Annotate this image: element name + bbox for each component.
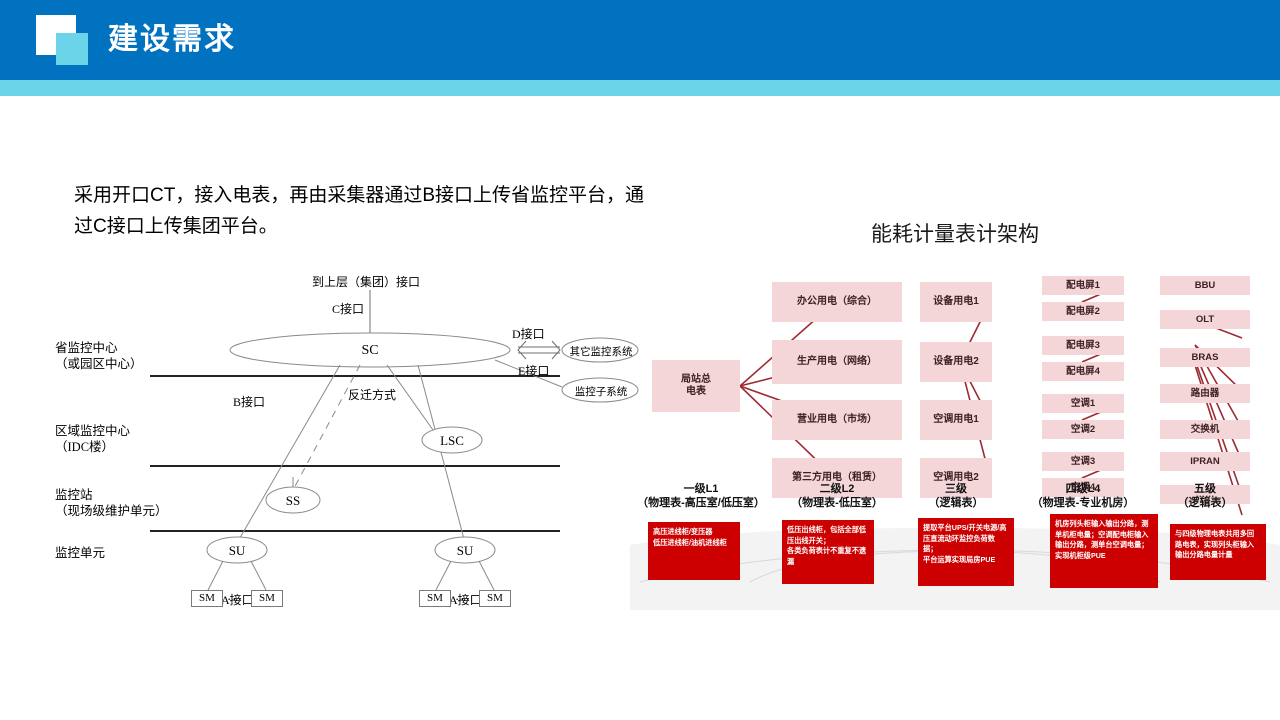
tier-1-line1: 区域监控中心 bbox=[55, 423, 130, 439]
box-level3-equipment-2[interactable]: 设备用电2 bbox=[920, 342, 992, 382]
tier-label-province: 省监控中心 （或园区中心） bbox=[55, 340, 143, 372]
label-e-interface: E接口 bbox=[518, 364, 549, 379]
label-d-interface: D接口 bbox=[512, 327, 545, 342]
box-level5-olt-label: OLT bbox=[1196, 314, 1214, 326]
box-level4-ac-1[interactable]: 空调1 bbox=[1042, 394, 1124, 413]
box-level5-router[interactable]: 路由器 bbox=[1160, 384, 1250, 403]
box-level2-office[interactable]: 办公用电（综合） bbox=[772, 282, 902, 322]
box-level1-main-meter-label: 局站总 电表 bbox=[681, 374, 711, 398]
node-sm-right-2: SM bbox=[479, 590, 511, 607]
box-level5-olt[interactable]: OLT bbox=[1160, 310, 1250, 329]
ellipsis-right: ··· bbox=[455, 591, 471, 606]
box-level5-bras[interactable]: BRAS bbox=[1160, 348, 1250, 367]
box-level4-panel-4-label: 配电屏4 bbox=[1066, 366, 1100, 378]
node-other-monitoring-system: 其它监控系统 bbox=[563, 344, 639, 359]
monitoring-hierarchy-diagram: 到上层（集团）接口 C接口 B接口 D接口 E接口 反迁方式 A接口 A接口 S… bbox=[40, 265, 640, 615]
box-level3-equipment-2-label: 设备用电2 bbox=[933, 356, 979, 368]
box-level2-business-label: 营业用电（市场） bbox=[797, 414, 877, 426]
label-c-interface: C接口 bbox=[332, 302, 364, 317]
tier-2-line1: 监控站 bbox=[55, 487, 168, 503]
node-monitoring-subsystem: 监控子系统 bbox=[563, 384, 639, 399]
level-caption-2: 二级L2 （物理表-低压室） bbox=[772, 482, 902, 510]
level-caption-1: 一级L1 （物理表-高压室/低压室） bbox=[636, 482, 766, 510]
level-caption-3-sub: （逻辑表） bbox=[911, 496, 1001, 510]
box-level3-equipment-1[interactable]: 设备用电1 bbox=[920, 282, 992, 322]
level-caption-4: 四级L4 （物理表-专业机房） bbox=[1017, 482, 1149, 510]
level-caption-5-name: 五级 bbox=[1160, 482, 1250, 496]
box-level2-office-label: 办公用电（综合） bbox=[797, 296, 877, 308]
note-level-2: 低压出线柜，包括全部低压出线开关； 各类负荷表计不重复不遗漏 bbox=[782, 520, 874, 584]
box-level5-switch-label: 交换机 bbox=[1191, 424, 1220, 436]
node-sm-left-2: SM bbox=[251, 590, 283, 607]
label-b-interface: B接口 bbox=[233, 395, 265, 410]
box-level2-production-label: 生产用电（网络） bbox=[797, 356, 877, 368]
header-accent-stripe bbox=[0, 80, 1280, 96]
note-level-5: 与四级物理电表共用多回路电表，实现列头柜输入输出分路电量计量 bbox=[1170, 524, 1266, 580]
level-caption-2-sub: （物理表-低压室） bbox=[772, 496, 902, 510]
box-level4-ac-2-label: 空调2 bbox=[1071, 424, 1095, 436]
box-level2-business[interactable]: 营业用电（市场） bbox=[772, 400, 902, 440]
node-lsc: LSC bbox=[422, 433, 482, 449]
box-level5-bbu[interactable]: BBU bbox=[1160, 276, 1250, 295]
box-level2-production[interactable]: 生产用电（网络） bbox=[772, 340, 902, 384]
node-sm-right-1: SM bbox=[419, 590, 451, 607]
box-level4-panel-2-label: 配电屏2 bbox=[1066, 306, 1100, 318]
box-level5-ipran[interactable]: IPRAN bbox=[1160, 452, 1250, 471]
tier-2-line2: （现场级维护单元） bbox=[55, 503, 168, 519]
tier-0-line2: （或园区中心） bbox=[55, 356, 143, 372]
box-level1-main-meter[interactable]: 局站总 电表 bbox=[652, 360, 740, 412]
intro-paragraph: 采用开口CT，接入电表，再由采集器通过B接口上传省监控平台，通过C接口上传集团平… bbox=[74, 180, 654, 242]
box-level4-panel-1[interactable]: 配电屏1 bbox=[1042, 276, 1124, 295]
label-to-upper-layer: 到上层（集团）接口 bbox=[312, 275, 420, 290]
box-level4-ac-3[interactable]: 空调3 bbox=[1042, 452, 1124, 471]
level-caption-2-name: 二级L2 bbox=[772, 482, 902, 496]
tier-1-line2: （IDC楼） bbox=[55, 439, 130, 455]
box-level4-panel-2[interactable]: 配电屏2 bbox=[1042, 302, 1124, 321]
box-level4-ac-2[interactable]: 空调2 bbox=[1042, 420, 1124, 439]
level-caption-3: 三级 （逻辑表） bbox=[911, 482, 1001, 510]
level-caption-3-name: 三级 bbox=[911, 482, 1001, 496]
box-level4-panel-4[interactable]: 配电屏4 bbox=[1042, 362, 1124, 381]
note-level-1: 高压进线柜/变压器 低压进线柜/油机进线柜 bbox=[648, 522, 740, 580]
box-level5-bbu-label: BBU bbox=[1195, 280, 1216, 292]
box-level5-switch[interactable]: 交换机 bbox=[1160, 420, 1250, 439]
box-level5-bras-label: BRAS bbox=[1192, 352, 1219, 364]
node-su-right: SU bbox=[435, 543, 495, 559]
node-sc: SC bbox=[340, 343, 400, 359]
label-reverse-mode: 反迁方式 bbox=[348, 388, 396, 403]
page-title: 建设需求 bbox=[108, 20, 236, 60]
tier-3-line1: 监控单元 bbox=[55, 545, 105, 561]
box-level4-panel-1-label: 配电屏1 bbox=[1066, 280, 1100, 292]
energy-metering-architecture-diagram: 能耗计量表计架构 bbox=[630, 210, 1280, 610]
tier-label-region: 区域监控中心 （IDC楼） bbox=[55, 423, 130, 455]
tier-label-unit: 监控单元 bbox=[55, 545, 105, 561]
box-level4-panel-3[interactable]: 配电屏3 bbox=[1042, 336, 1124, 355]
box-level4-panel-3-label: 配电屏3 bbox=[1066, 340, 1100, 352]
tier-label-station: 监控站 （现场级维护单元） bbox=[55, 487, 168, 519]
ellipsis-left: ··· bbox=[227, 591, 243, 606]
box-level3-equipment-1-label: 设备用电1 bbox=[933, 296, 979, 308]
note-level-3: 提取平台UPS/开关电源/高压直流动环监控负荷数据； 平台运算实现局房PUE bbox=[918, 518, 1014, 586]
level-caption-1-name: 一级L1 bbox=[636, 482, 766, 496]
node-ss: SS bbox=[263, 493, 323, 509]
node-sm-left-1: SM bbox=[191, 590, 223, 607]
note-level-4: 机房列头柜输入输出分路，测单机柜电量；空调配电柜输入输出分路，测单台空调电量；实… bbox=[1050, 514, 1158, 588]
box-level4-ac-3-label: 空调3 bbox=[1071, 456, 1095, 468]
box-level3-hvac-1[interactable]: 空调用电1 bbox=[920, 400, 992, 440]
level-caption-4-sub: （物理表-专业机房） bbox=[1017, 496, 1149, 510]
node-su-left: SU bbox=[207, 543, 267, 559]
level-caption-1-sub: （物理表-高压室/低压室） bbox=[636, 496, 766, 510]
level-caption-4-name: 四级L4 bbox=[1017, 482, 1149, 496]
level-caption-5-sub: （逻辑表） bbox=[1160, 496, 1250, 510]
box-level5-ipran-label: IPRAN bbox=[1190, 456, 1220, 468]
logo-square-cyan-icon bbox=[56, 33, 88, 65]
box-level4-ac-1-label: 空调1 bbox=[1071, 398, 1095, 410]
tier-0-line1: 省监控中心 bbox=[55, 340, 143, 356]
box-level3-hvac-1-label: 空调用电1 bbox=[933, 414, 979, 426]
box-level5-router-label: 路由器 bbox=[1191, 388, 1220, 400]
level-caption-5: 五级 （逻辑表） bbox=[1160, 482, 1250, 510]
